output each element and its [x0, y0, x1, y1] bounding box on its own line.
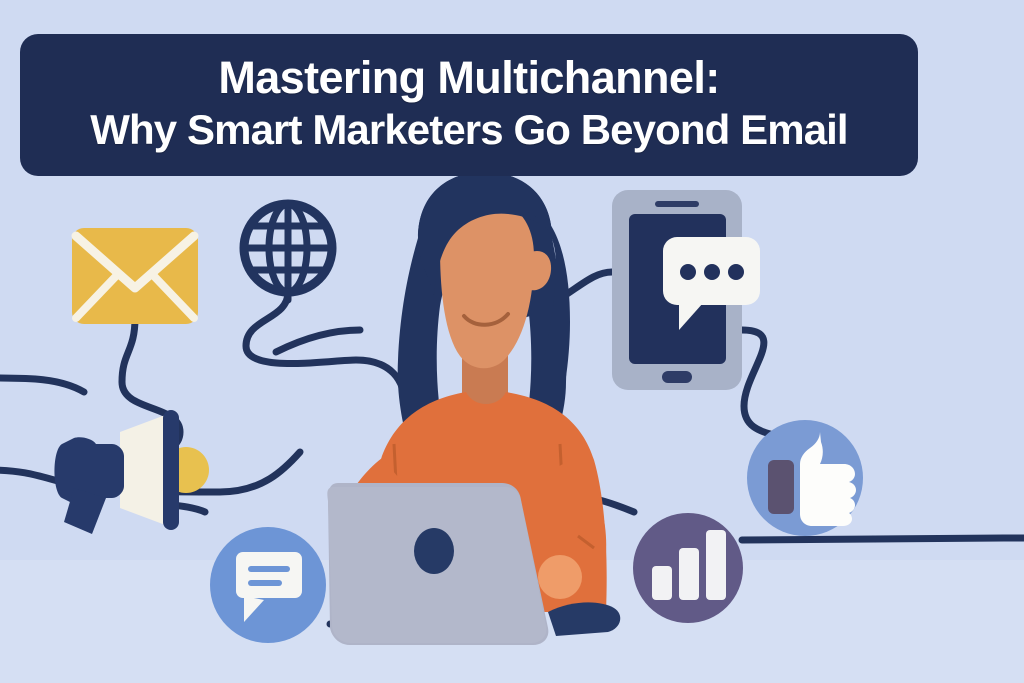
phone-speaker — [655, 201, 699, 207]
bubble-dot-2 — [704, 264, 720, 280]
illustration-canvas: Mastering Multichannel: Why Smart Market… — [0, 0, 1024, 683]
laptop-logo — [414, 528, 454, 574]
laptop-icon — [327, 483, 548, 683]
message-bubble-icon — [210, 527, 326, 643]
bubble-dot-1 — [680, 264, 696, 280]
chart-bar-3 — [706, 530, 726, 600]
bar-chart-icon — [633, 513, 743, 623]
globe-icon — [243, 203, 333, 293]
thumbs-up-icon — [747, 420, 863, 536]
bubble-dot-3 — [728, 264, 744, 280]
connector-line-7 — [742, 538, 1024, 540]
bubble-line-1 — [248, 566, 290, 572]
hand-right — [538, 555, 582, 599]
envelope-icon — [72, 228, 198, 324]
thumbs-up-cuff — [768, 460, 794, 514]
title-line-secondary: Why Smart Marketers Go Beyond Email — [90, 107, 847, 152]
mobile-phone-icon — [612, 190, 760, 390]
bubble-line-2 — [248, 580, 282, 586]
shoe — [548, 602, 620, 636]
phone-home-button — [662, 371, 692, 383]
title-banner: Mastering Multichannel: Why Smart Market… — [20, 34, 918, 176]
chart-bar-1 — [652, 566, 672, 600]
chart-bar-2 — [679, 548, 699, 600]
title-line-primary: Mastering Multichannel: — [218, 54, 719, 101]
